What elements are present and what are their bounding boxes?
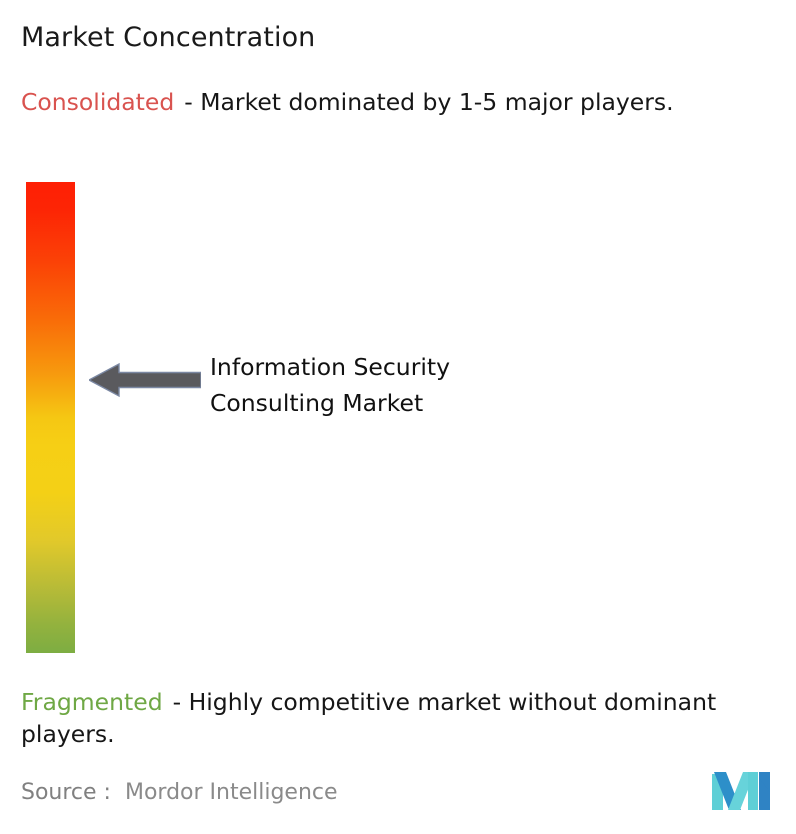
page-title: Market Concentration: [21, 20, 315, 56]
logo-mark: [710, 770, 774, 814]
gradient-scale-bar: [26, 182, 75, 653]
logo-stroke-4: [748, 772, 758, 810]
source-label: Source :: [21, 780, 111, 805]
market-concentration-infographic: Market Concentration Consolidated- Marke…: [0, 0, 796, 834]
fragmented-keyword: Fragmented: [21, 688, 163, 716]
fragmented-description: Fragmented- Highly competitive market wi…: [21, 686, 783, 750]
consolidated-keyword: Consolidated: [21, 88, 174, 116]
source-value: Mordor Intelligence: [125, 780, 338, 805]
left-arrow-icon: [89, 362, 201, 398]
left-arrow-shape: [89, 362, 201, 398]
callout-label: Information Security Consulting Market: [210, 349, 450, 421]
consolidated-description-text: - Market dominated by 1-5 major players.: [184, 88, 673, 116]
mordor-intelligence-logo: [710, 770, 774, 814]
source-line: Source : Mordor Intelligence: [21, 778, 338, 808]
consolidated-description: Consolidated- Market dominated by 1-5 ma…: [21, 86, 773, 118]
arrow-polygon: [89, 364, 201, 396]
